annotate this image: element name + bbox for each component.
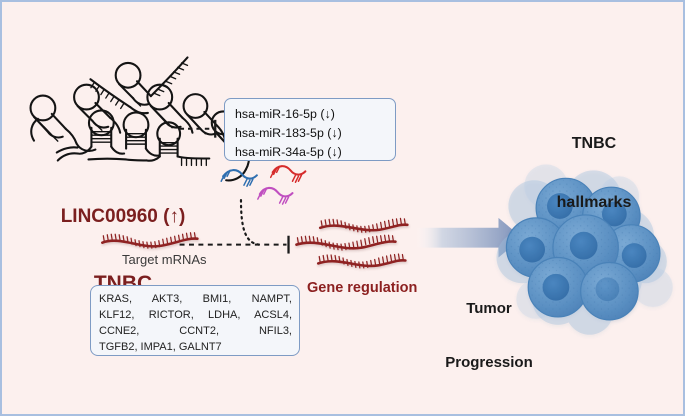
mirna-item-2: hsa-miR-34a-5p (↓) [235, 143, 342, 162]
tumor-progression-line2: Progression [436, 354, 542, 372]
mirna-item-1: hsa-miR-183-5p (↓) [235, 124, 342, 143]
mirna-strand-magenta-icon [258, 188, 293, 204]
regulated-mrna-strands [296, 218, 407, 268]
mirna-item-0: hsa-miR-16-5p (↓) [235, 105, 342, 124]
target-gene-list-box: KRAS, AKT3, BMI1, NAMPT, KLF12, RICTOR, … [90, 285, 300, 356]
gene-line-2: CCNE2, CCNT2, NFIL3, [99, 323, 292, 339]
tnbc-hallmarks-line1: TNBC [530, 134, 658, 154]
mirna-list-box: hsa-miR-16-5p (↓) hsa-miR-183-5p (↓) hsa… [224, 98, 396, 161]
tumor-progression-line1: Tumor [436, 300, 542, 318]
mirna-strand-red-icon [271, 166, 306, 182]
tnbc-hallmarks-line2: hallmarks [530, 193, 658, 213]
lncrna-strand-c [57, 110, 210, 165]
tnbc-hallmarks-label: TNBC hallmarks [530, 95, 658, 251]
gene-regulation-label: Gene regulation [307, 280, 417, 296]
gene-line-3: TGFB2, IMPA1, GALNT7 [99, 339, 292, 355]
target-mrnas-label: Target mRNAs [122, 252, 207, 267]
mirna-list: hsa-miR-16-5p (↓) hsa-miR-183-5p (↓) hsa… [235, 105, 342, 162]
figure-canvas: LINC00960 (↑) TNBC hsa-miR-16-5p (↓) hsa… [0, 0, 685, 416]
gene-line-1: KLF12, RICTOR, LDHA, ACSL4, [99, 307, 292, 323]
target-gene-list: KRAS, AKT3, BMI1, NAMPT, KLF12, RICTOR, … [99, 291, 292, 356]
gene-line-0: KRAS, AKT3, BMI1, NAMPT, [99, 291, 292, 307]
lncrna-strand-a [31, 57, 188, 150]
tumor-progression-label: Tumor Progression [436, 264, 542, 408]
lncrna-label-line1: LINC00960 (↑) [28, 206, 218, 228]
